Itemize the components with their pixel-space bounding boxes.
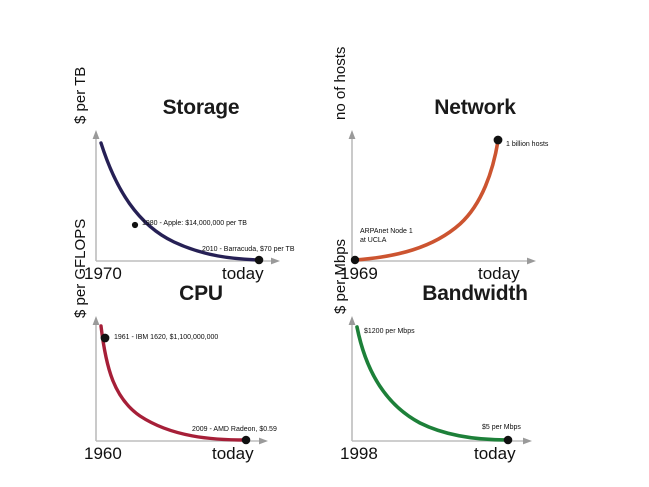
y-axis-arrow (93, 316, 100, 325)
plot-area-storage: $ per TB 1970 today 1980 - Apple: $14,00… (56, 124, 346, 286)
plot-area-network: no of hosts 1969 today ARPAnet Node 1 at… (330, 124, 620, 286)
data-curve-cpu (101, 326, 246, 440)
data-point-marker-amd-radeon (242, 436, 251, 445)
y-axis-arrow (349, 130, 356, 139)
data-curve-storage (101, 143, 259, 260)
x-tick-start-storage: 1970 (84, 264, 122, 284)
charts-grid: Storage $ per TB 1970 today 1980 - Apple… (0, 0, 649, 487)
x-tick-end-storage: today (222, 264, 264, 284)
plot-area-cpu: $ per GFLOPS 1960 today 1961 - IBM 1620,… (56, 310, 346, 472)
x-tick-end-network: today (478, 264, 520, 284)
annotation-bandwidth-5: $5 per Mbps (482, 423, 521, 432)
annotation-cpu-ibm1620: 1961 - IBM 1620, $1,100,000,000 (114, 333, 218, 342)
chart-title-network: Network (330, 96, 620, 120)
data-point-marker-arpanet (351, 256, 359, 264)
annotation-storage-1980: 1980 - Apple: $14,000,000 per TB (142, 219, 247, 228)
data-point-marker-ibm1620 (101, 334, 110, 343)
chart-title-bandwidth: Bandwidth (330, 282, 620, 306)
chart-title-cpu: CPU (56, 282, 346, 306)
x-axis-arrow (527, 258, 536, 265)
data-point-marker-2010 (255, 256, 264, 265)
x-tick-start-bandwidth: 1998 (340, 444, 378, 464)
data-point-marker-1billion (494, 136, 503, 145)
y-axis-arrow (93, 130, 100, 139)
x-axis-arrow (259, 438, 268, 445)
x-tick-end-cpu: today (212, 444, 254, 464)
annotation-bandwidth-1200: $1200 per Mbps (364, 327, 415, 336)
chart-panel-bandwidth: Bandwidth $ per Mbps 1998 today $1200 pe… (330, 282, 620, 472)
chart-title-storage: Storage (56, 96, 346, 120)
plot-area-bandwidth: $ per Mbps 1998 today $1200 per Mbps $5 … (330, 310, 620, 472)
plot-svg-network (330, 124, 620, 286)
x-tick-end-bandwidth: today (474, 444, 516, 464)
chart-panel-cpu: CPU $ per GFLOPS 1960 today 1961 - IBM 1… (56, 282, 346, 472)
data-point-marker-1980 (132, 222, 138, 228)
x-tick-start-cpu: 1960 (84, 444, 122, 464)
annotation-network-arpanet-line2: at UCLA (360, 236, 386, 245)
plot-svg-storage (56, 124, 346, 286)
annotation-cpu-amd-radeon: 2009 - AMD Radeon, $0.59 (192, 425, 277, 434)
chart-panel-storage: Storage $ per TB 1970 today 1980 - Apple… (56, 96, 346, 286)
data-point-marker-5-per-mbps (504, 436, 513, 445)
y-axis-arrow (349, 316, 356, 325)
annotation-storage-2010: 2010 - Barracuda, $70 per TB (202, 245, 294, 254)
x-axis-arrow (523, 438, 532, 445)
x-axis-arrow (271, 258, 280, 265)
annotation-network-1billion: 1 billion hosts (506, 140, 548, 149)
chart-panel-network: Network no of hosts 1969 today ARPAnet N… (330, 96, 620, 286)
